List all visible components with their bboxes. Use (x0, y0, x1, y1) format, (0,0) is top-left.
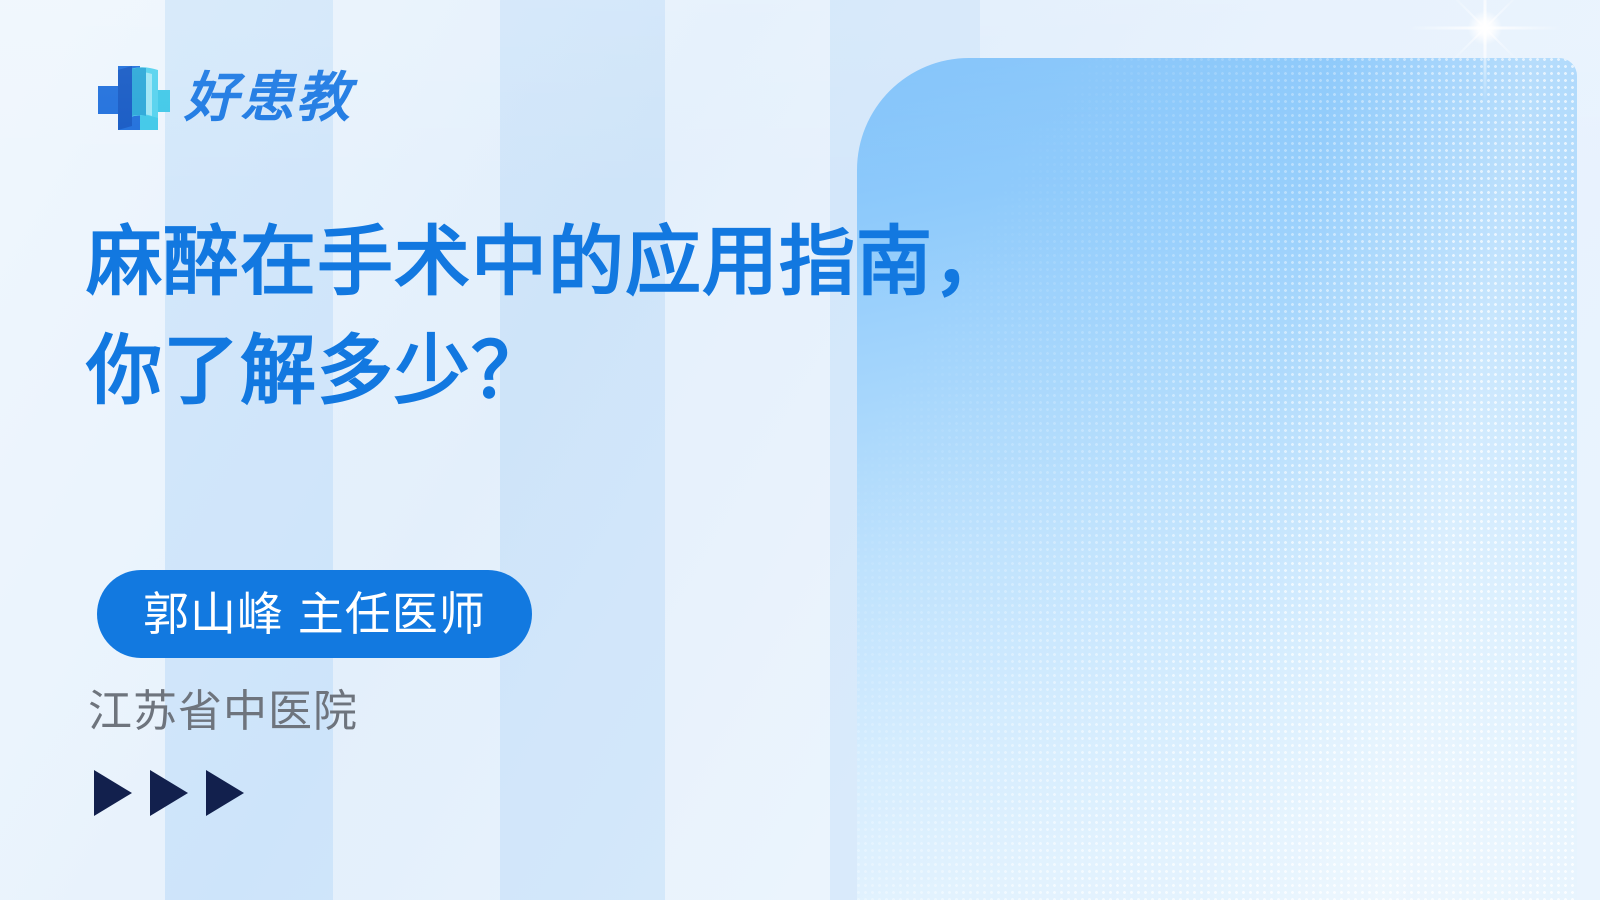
speaker-name-title: 郭山峰 主任医师 (143, 591, 486, 637)
play-triangle-icon (150, 770, 188, 816)
panel-sheen (857, 58, 1577, 900)
play-arrows-group (94, 770, 244, 816)
title-line-1: 麻醉在手术中的应用指南， (86, 208, 1206, 317)
title-line-2: 你了解多少？ (86, 317, 1206, 426)
speaker-badge[interactable]: 郭山峰 主任医师 (97, 570, 532, 658)
medical-cross-book-icon (88, 56, 170, 140)
page-title: 麻醉在手术中的应用指南， 你了解多少？ (86, 208, 1206, 427)
brand-logo[interactable]: 好患教 (88, 56, 352, 140)
promo-slide: 好患教 麻醉在手术中的应用指南， 你了解多少？ 郭山峰 主任医师 江苏省中医院 (0, 0, 1600, 900)
play-triangle-icon (206, 770, 244, 816)
brand-logo-text: 好患教 (184, 71, 352, 125)
decorative-rounded-panel (857, 58, 1577, 900)
play-triangle-icon (94, 770, 132, 816)
speaker-hospital: 江苏省中医院 (88, 686, 358, 739)
